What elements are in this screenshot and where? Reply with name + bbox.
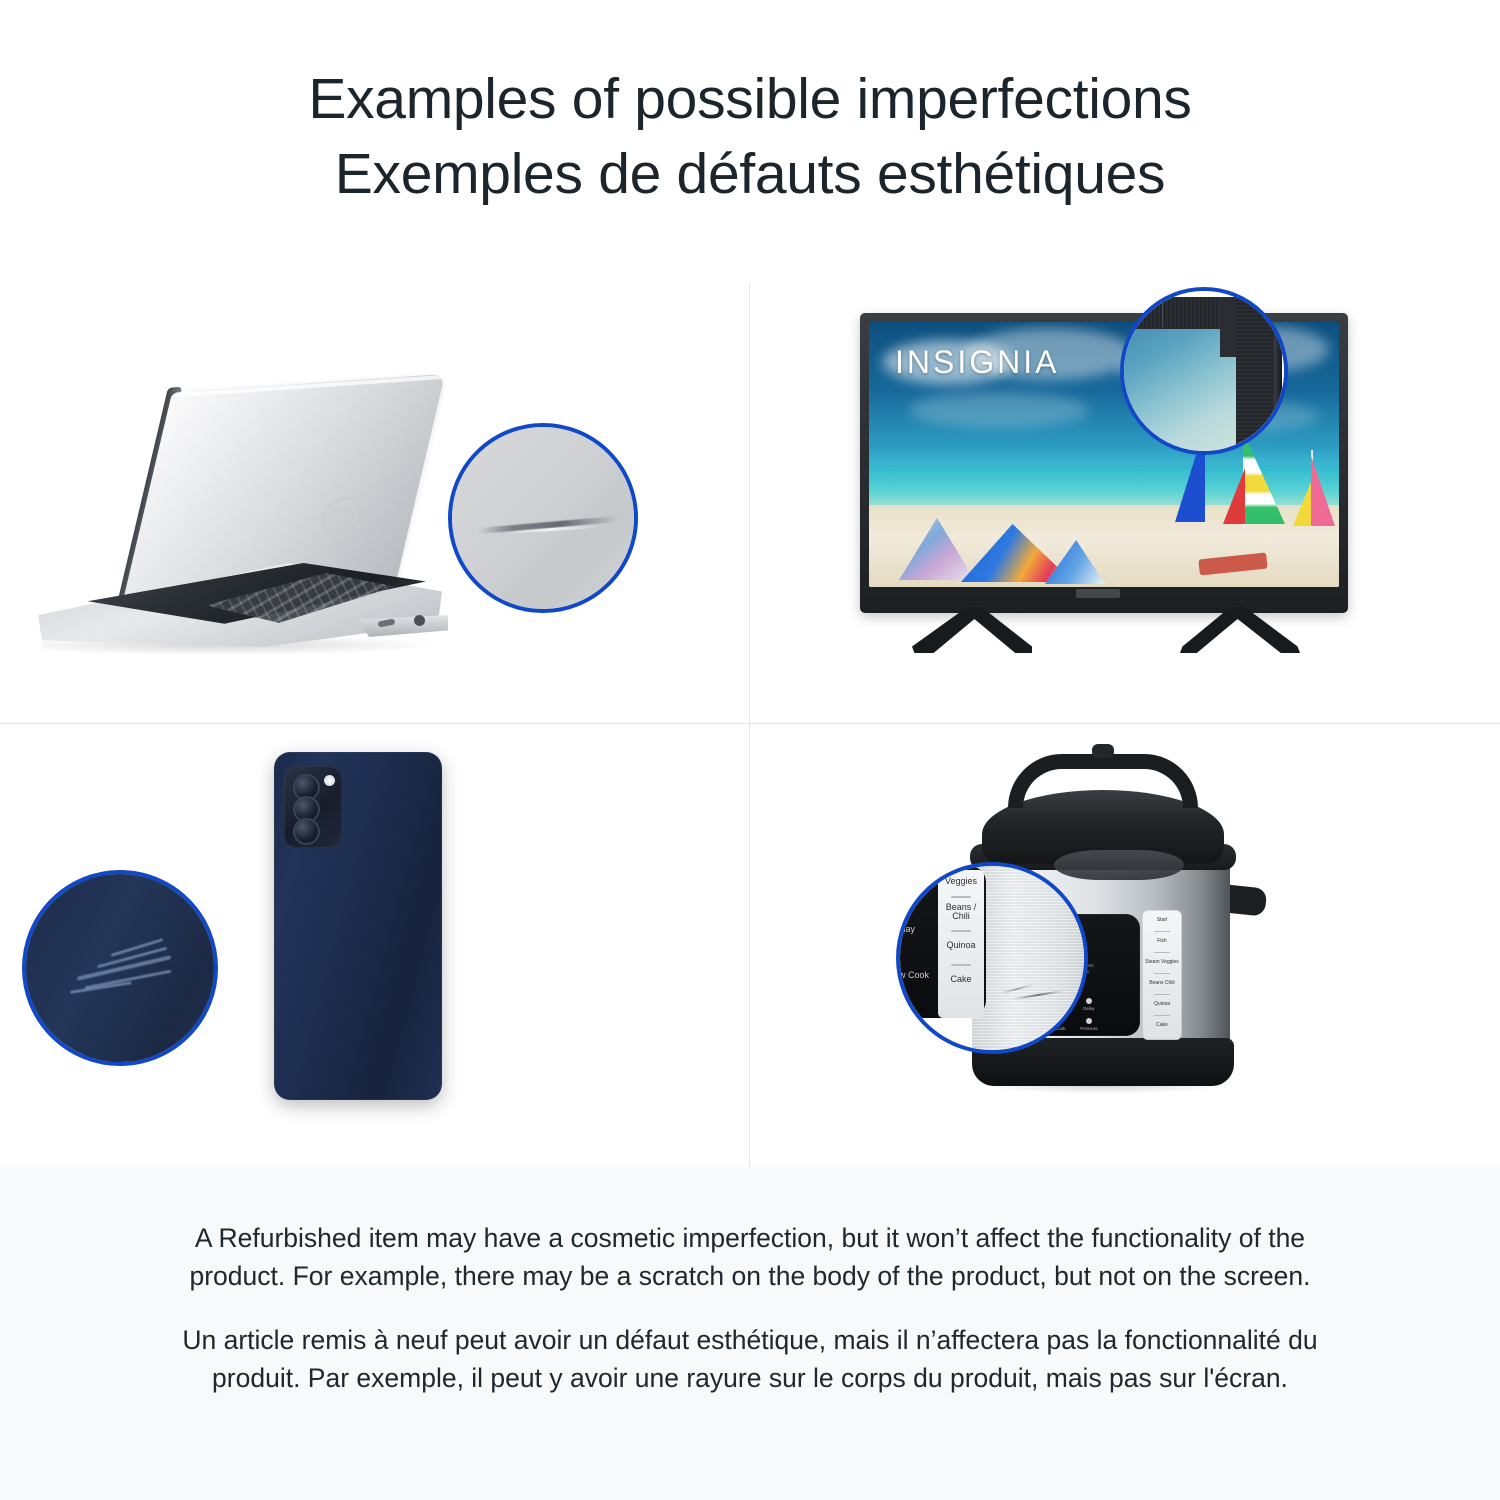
tv-stand-right — [1180, 607, 1300, 653]
magnified-steel-surface — [972, 866, 1088, 1054]
magnifier-content-television — [1124, 291, 1284, 451]
magnifier-content-laptop — [452, 427, 634, 609]
panel-smartphone — [0, 724, 749, 1162]
divider — [951, 896, 971, 898]
panel-television: INSIGNIA — [750, 285, 1499, 723]
tv-stand-left — [912, 607, 1032, 653]
cooker-button-start[interactable]: Start — [1145, 912, 1179, 930]
magnifier-circle-smartphone — [22, 870, 218, 1066]
magnified-button-column: Veggies Beans / Chili Quinoa Cake — [938, 870, 984, 1018]
cloud — [909, 392, 1089, 428]
cooker-pressure-valve-icon — [1092, 744, 1114, 758]
beach-kite — [1045, 536, 1109, 584]
television-illustration: INSIGNIA — [750, 285, 1499, 723]
panel-laptop — [0, 285, 749, 723]
cooker-button-quinoa[interactable]: Quinoa — [1145, 996, 1179, 1014]
divider — [1154, 931, 1170, 932]
cooker-button[interactable] — [1086, 998, 1092, 1004]
refurbished-imperfections-infographic: Examples of possible imperfections Exemp… — [0, 0, 1500, 1500]
smartphone-figure — [250, 752, 500, 1124]
cooker-carry-handle — [1008, 754, 1198, 808]
magnifier-circle-television — [1120, 287, 1288, 455]
magnified-bezel-seam — [1162, 297, 1163, 327]
divider — [1154, 1015, 1170, 1016]
tv-brand-badge — [1076, 589, 1120, 598]
magnified-ghost-label: Delay — [896, 924, 915, 934]
phone-camera-module — [284, 766, 342, 848]
divider — [951, 964, 971, 966]
cooker-button-steam-veggies[interactable]: Steam Veggies — [1145, 954, 1179, 972]
magnified-button-quinoa[interactable]: Quinoa — [941, 934, 981, 958]
footer-paragraph-en: A Refurbished item may have a cosmetic i… — [150, 1219, 1350, 1295]
beach-item — [1199, 538, 1269, 572]
panel-pressure-cooker: INSIGNIA 8:00 Less Normal More SLOW COOK… — [750, 724, 1499, 1162]
cooker-button-cake[interactable]: Cake — [1145, 1017, 1179, 1035]
cooker-button-fish[interactable]: Fish — [1145, 933, 1179, 951]
laptop-figure — [30, 377, 500, 657]
magnified-ghost-label: Slow Cook — [896, 970, 929, 980]
magnifier-circle-laptop — [448, 423, 638, 613]
magnifier-circle-pressure-cooker: Delay Slow Cook Veggies Beans / Chili Qu… — [896, 862, 1088, 1054]
magnified-button-beans-chili[interactable]: Beans / Chili — [941, 900, 981, 924]
cooker-button-beans-chili[interactable]: Beans Chili — [1145, 975, 1179, 993]
footer-paragraph-fr: Un article remis à neuf peut avoir un dé… — [150, 1321, 1350, 1397]
pressure-cooker-illustration: INSIGNIA 8:00 Less Normal More SLOW COOK… — [750, 724, 1499, 1162]
magnifier-content-pressure-cooker: Delay Slow Cook Veggies Beans / Chili Qu… — [900, 866, 1084, 1050]
magnified-button-veggies[interactable]: Veggies — [941, 870, 981, 894]
page-title-fr: Exemples de défauts esthétiques — [335, 137, 1165, 212]
magnified-bezel-side — [1274, 301, 1282, 441]
page-footer: A Refurbished item may have a cosmetic i… — [0, 1167, 1500, 1500]
smartphone-illustration — [0, 724, 749, 1162]
cooker-button[interactable] — [1086, 1018, 1092, 1024]
examples-grid: INSIGNIA — [0, 285, 1500, 1167]
laptop-illustration — [0, 285, 749, 723]
divider — [1154, 973, 1170, 974]
magnifier-content-smartphone — [26, 874, 214, 1062]
divider — [951, 930, 971, 932]
camera-lens-icon — [293, 818, 320, 845]
cooker-right-button-strip: Start Fish Steam Veggies Beans Chili Qui… — [1142, 910, 1182, 1040]
camera-flash-icon — [324, 775, 335, 786]
divider — [1154, 952, 1170, 953]
magnified-button-cake[interactable]: Cake — [941, 968, 981, 992]
page-title-en: Examples of possible imperfections — [308, 62, 1191, 137]
page-header: Examples of possible imperfections Exemp… — [0, 0, 1500, 285]
sailboat — [1293, 450, 1339, 530]
divider — [1154, 994, 1170, 995]
tv-brand-logo: INSIGNIA — [895, 344, 1059, 381]
